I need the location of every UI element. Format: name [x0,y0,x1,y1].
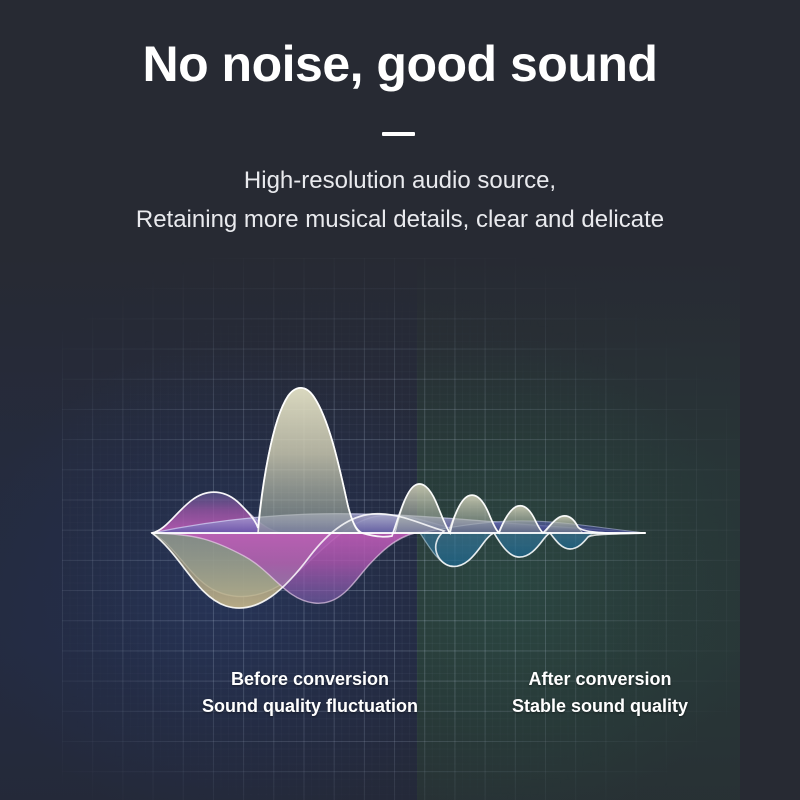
caption-after-line-2: Stable sound quality [400,693,800,720]
promo-banner: No noise, good sound High-resolution aud… [0,0,800,800]
title-divider [382,132,415,136]
page-subtitle: High-resolution audio source, Retaining … [0,162,800,240]
caption-after-conversion: After conversion Stable sound quality [400,666,800,721]
caption-after-line-1: After conversion [400,666,800,693]
subtitle-line-2: Retaining more musical details, clear an… [0,201,800,240]
subtitle-line-1: High-resolution audio source, [0,162,800,201]
page-title: No noise, good sound [0,36,800,94]
